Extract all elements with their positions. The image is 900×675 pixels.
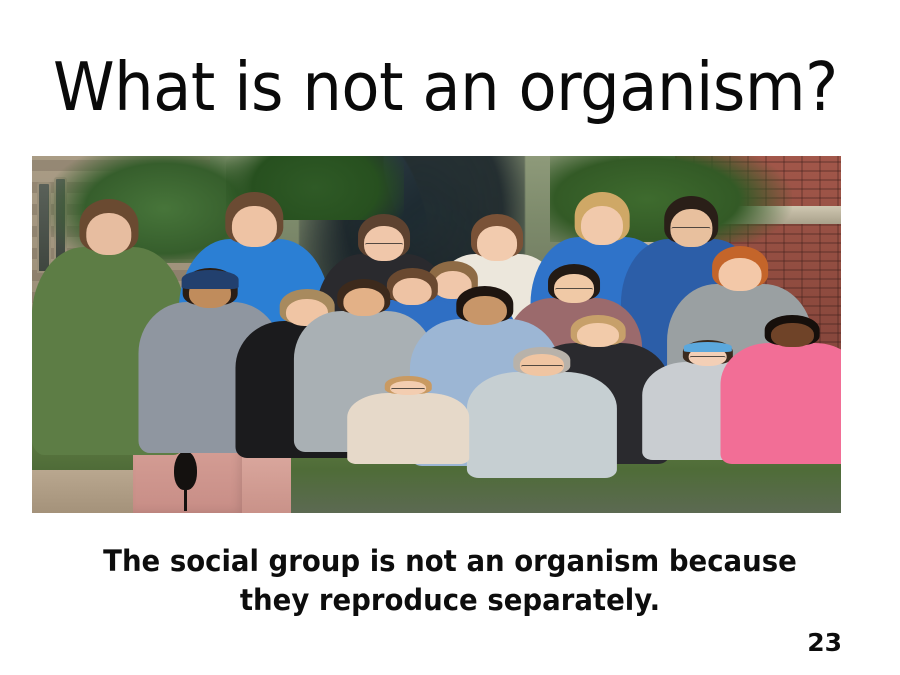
photo-person-head (581, 206, 623, 245)
photo-person-torso (467, 372, 617, 479)
photo-person-head (577, 323, 619, 347)
page-title: What is not an organism? (53, 48, 797, 126)
photo-person-head (343, 288, 384, 316)
photo-person (347, 377, 469, 513)
photo-person (467, 349, 617, 513)
photo-person-head (86, 213, 131, 254)
presentation-slide: What is not an organism? (0, 0, 900, 675)
photo-person-glasses (672, 227, 711, 234)
photo-scene (32, 156, 841, 513)
photo-person-head (718, 258, 761, 291)
photo-person-glasses (391, 388, 425, 391)
photo-person-head (463, 296, 507, 325)
photo-person-head (771, 323, 813, 347)
photo-person-cap (182, 270, 239, 289)
photo-person-head (232, 206, 276, 247)
photo-person (721, 317, 841, 513)
page-number: 23 (807, 628, 842, 657)
photo-person-glasses (521, 365, 563, 369)
photo-person-glasses (365, 243, 403, 249)
slide-caption: The social group is not an organism beca… (89, 542, 811, 620)
photo-person-head (477, 226, 517, 261)
group-photo (32, 156, 841, 513)
photo-person-torso (721, 343, 841, 465)
photo-person-glasses (555, 288, 593, 294)
photo-person-torso (347, 393, 469, 464)
